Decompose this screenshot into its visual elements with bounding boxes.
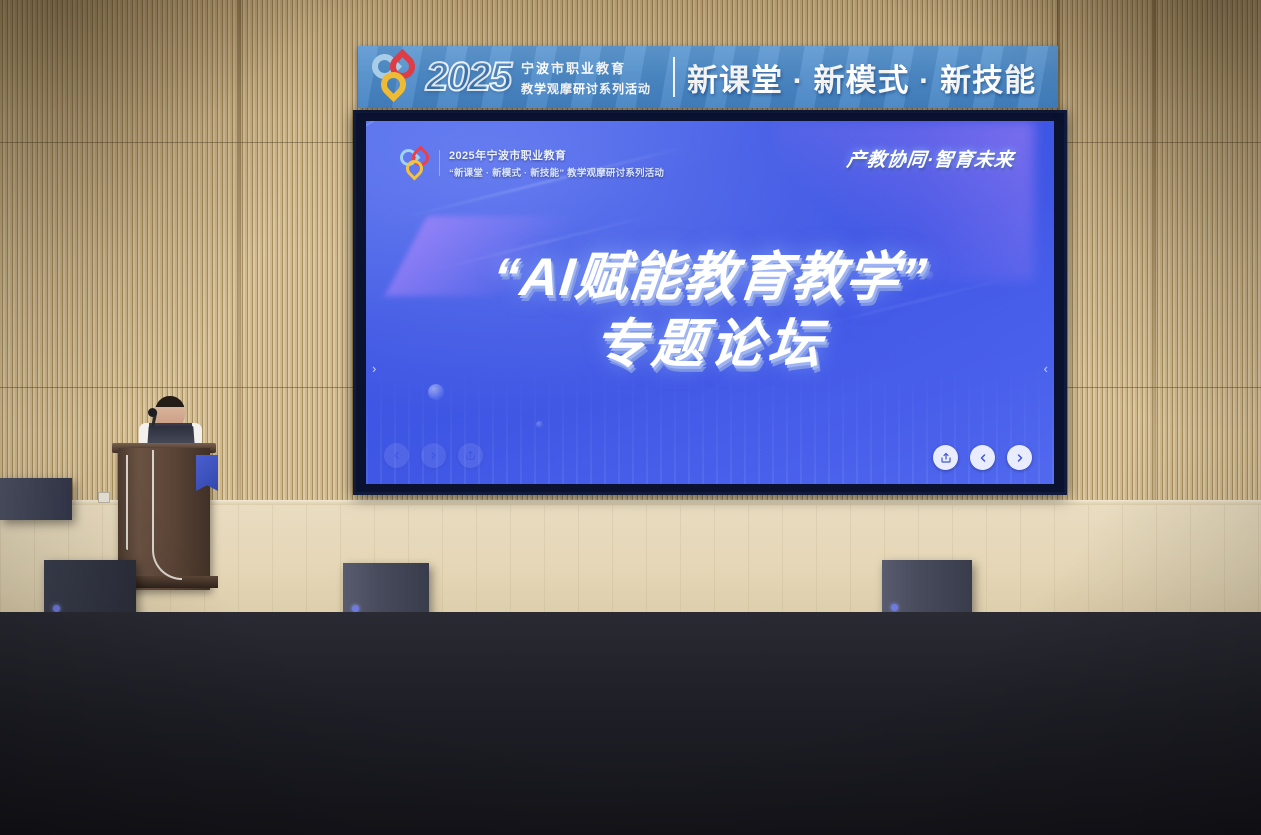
projection-screen-frame: 2025年宁波市职业教育 “新课堂 · 新模式 · 新技能” 教学观摩研讨系列活… (353, 110, 1067, 495)
slide-right-slogan: 产教协同·智育未来 (845, 145, 1016, 172)
three-petal-logo-icon (400, 147, 430, 179)
ghost-next-icon (421, 443, 446, 468)
banner-subtitle-line2: 教学观摩研讨系列活动 (521, 80, 651, 97)
audience-area (0, 612, 1261, 835)
slide-header-line2: “新课堂 · 新模式 · 新技能” 教学观摩研讨系列活动 (449, 165, 664, 179)
screen-edge-marker-left: › (372, 362, 376, 375)
wall-socket (98, 492, 110, 503)
banner-three-petal-logo-icon (372, 52, 420, 102)
slide-header: 2025年宁波市职业教育 “新课堂 · 新模式 · 新技能” 教学观摩研讨系列活… (400, 147, 664, 179)
banner-year: 2025 (426, 55, 511, 100)
ghost-share-icon (458, 443, 483, 468)
slide-header-line1: 2025年宁波市职业教育 (449, 147, 664, 163)
banner-subtitle-line1: 宁波市职业教育 (521, 58, 651, 77)
header-divider (439, 150, 440, 176)
podium-cable (152, 450, 182, 580)
slide-title-block: “AI赋能教育教学” 专题论坛 (366, 249, 1054, 373)
microphone-icon (148, 408, 157, 417)
share-icon[interactable] (933, 445, 958, 470)
banner-divider (673, 57, 675, 97)
screen-edge-marker-right: ‹ (1044, 362, 1048, 375)
wall-shadow-left (0, 0, 300, 430)
stage-monitor-right (882, 560, 972, 619)
presentation-slide[interactable]: 2025年宁波市职业教育 “新课堂 · 新模式 · 新技能” 教学观摩研讨系列活… (366, 121, 1054, 484)
chevron-right-icon[interactable] (1007, 445, 1032, 470)
slide-controls[interactable] (933, 445, 1032, 470)
stage-monitor-far-left (44, 560, 136, 620)
conference-hall-scene: 2025年宁波市职业教育 “新课堂 · 新模式 · 新技能” 教学观摩研讨系列活… (0, 0, 1261, 835)
stage-monitor-upper-left (0, 478, 72, 520)
slide-title-line1: “AI赋能教育教学” (366, 249, 1054, 306)
wall-cable (126, 455, 128, 550)
ghost-prev-icon (384, 443, 409, 468)
event-banner: 2025 宁波市职业教育 教学观摩研讨系列活动 新课堂 · 新模式 · 新技能 (358, 46, 1058, 108)
reflected-controls (384, 443, 483, 468)
chevron-left-icon[interactable] (970, 445, 995, 470)
slide-title-line2: 专题论坛 (366, 316, 1054, 373)
banner-slogan: 新课堂 · 新模式 · 新技能 (687, 55, 1036, 100)
